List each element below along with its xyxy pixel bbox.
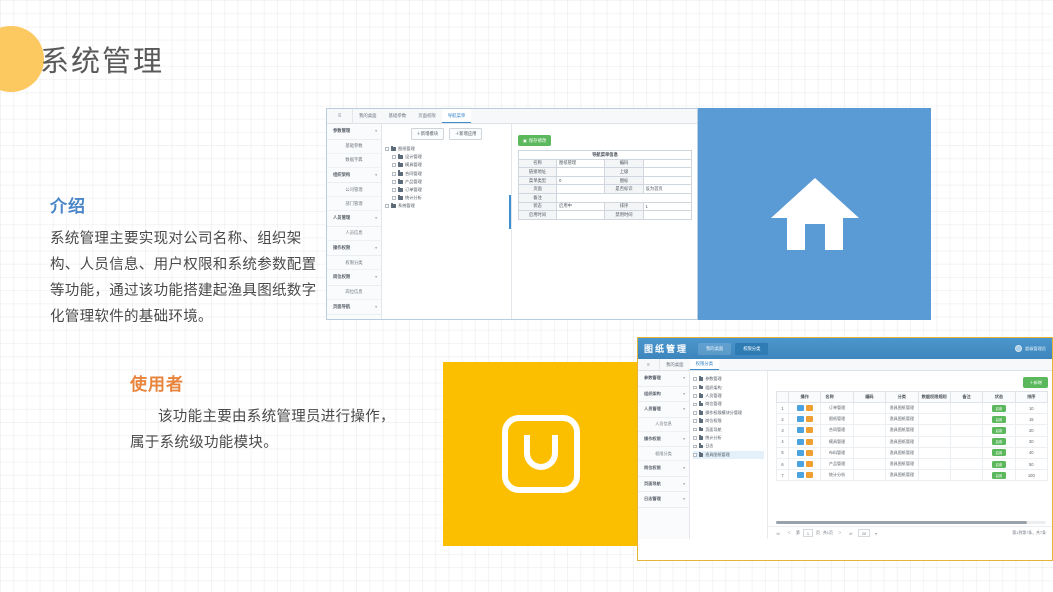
sidebar-item-人员信息[interactable]: 人员信息: [638, 418, 689, 432]
cell-name: 产品管理: [821, 458, 853, 469]
cell-status: 启用: [983, 470, 1015, 481]
cell-status: 启用: [983, 403, 1015, 414]
row-actions: [789, 458, 821, 469]
field-label: 排序: [605, 202, 643, 211]
page-title: 系统管理: [40, 38, 164, 80]
edit-icon[interactable]: [806, 405, 813, 411]
row-actions: [789, 414, 821, 425]
row-actions: [789, 470, 821, 481]
cell-code: [853, 470, 885, 481]
folder-icon: [398, 163, 403, 167]
column-header-5[interactable]: 数据权限规则: [918, 392, 950, 403]
edit-icon[interactable]: [806, 416, 813, 422]
sidebar-group-label: 操作权限: [333, 245, 350, 251]
folder-icon: [398, 155, 403, 159]
chevron-down-icon: ▾: [683, 466, 685, 470]
folder-icon: [398, 172, 403, 176]
permission-grid-pane: ＋新增 操作名称编码分类数据权限规则备注状态排序 1订单管理渔具图纸管理启用10…: [768, 371, 1052, 539]
tree-item[interactable]: 渔具图纸管理: [693, 451, 764, 459]
sidebar-group-label: 岗位权限: [333, 274, 350, 280]
row-index: 2: [777, 414, 789, 425]
field-label: 链接地址: [519, 168, 557, 177]
sidebar-group-label: 人员管理: [644, 406, 661, 412]
tree-item-label: 页面导航: [705, 427, 721, 433]
tree-item-label: 操作权限模块分管理: [705, 410, 742, 416]
field-label: 图标: [605, 176, 643, 185]
tab-2[interactable]: 页面权限: [412, 109, 442, 123]
cell-cat: 渔具图纸管理: [886, 470, 918, 481]
sidebar-item-页面权限[interactable]: 页面权限: [327, 315, 381, 320]
cell-name: 模具管理: [821, 436, 853, 447]
tree-item-label: 合同管理: [405, 171, 422, 177]
folder-icon: [699, 377, 704, 381]
row-index: 1: [777, 403, 789, 414]
module-tree-pane: ＋新增模块＋新增应用 图纸管理设计管理模具管理合同管理产品管理订单管理统计分析系…: [382, 124, 512, 320]
table-row[interactable]: 7统计分析渔具图纸管理启用100: [777, 470, 1048, 481]
form-row: 名称图纸管理编码: [519, 159, 692, 168]
table-row[interactable]: 6产品管理渔具图纸管理启用50: [777, 458, 1048, 469]
field-value[interactable]: 设为首页: [643, 185, 691, 194]
edit-icon[interactable]: [806, 427, 813, 433]
form-row: 页面是否标识设为首页: [519, 185, 692, 194]
tree-item[interactable]: 参数管理: [693, 375, 764, 383]
tree-item[interactable]: 页面导航: [693, 425, 764, 433]
edit-icon[interactable]: [806, 472, 813, 478]
expand-checkbox[interactable]: [693, 436, 697, 440]
field-value[interactable]: [643, 168, 691, 177]
tree-item[interactable]: 图纸管理: [385, 145, 508, 153]
column-header-8[interactable]: 排序: [1015, 392, 1047, 403]
expand-checkbox[interactable]: [693, 445, 697, 449]
column-header-7[interactable]: 状态: [983, 392, 1015, 403]
field-label: 名称: [519, 159, 557, 168]
cell-status: 启用: [983, 414, 1015, 425]
cell-order: 30: [1015, 436, 1047, 447]
tree-item-label: 统计分析: [705, 435, 721, 441]
app-top-tabstrip: 我的桌面基础参数页面权限导航菜单: [353, 109, 471, 123]
field-label: 上级: [605, 168, 643, 177]
field-value[interactable]: 图纸管理: [557, 159, 605, 168]
tab-0[interactable]: 我的桌面: [353, 109, 383, 123]
page-size-select[interactable]: 20: [858, 529, 870, 537]
field-value[interactable]: 0: [557, 176, 605, 185]
cell-cat: 渔具图纸管理: [886, 458, 918, 469]
cell-note: [950, 414, 982, 425]
decorative-circle: [0, 26, 44, 92]
record-count: 第1到第7条，共7条: [1012, 530, 1046, 536]
cell-rule: [918, 447, 950, 458]
folder-icon: [398, 180, 403, 184]
view-icon[interactable]: [797, 472, 804, 478]
expand-checkbox[interactable]: [693, 428, 697, 432]
page-label: 第: [796, 530, 800, 536]
collapse-icon[interactable]: ≡: [327, 109, 353, 123]
field-value[interactable]: [557, 193, 692, 202]
cell-status: 启用: [983, 436, 1015, 447]
screenshot-panel-navigation-menu: ≡ 我的桌面基础参数页面权限导航菜单 参数管理▾基础参数数据字典组织架构▾公司管…: [326, 108, 698, 320]
button-新增应用[interactable]: ＋新增应用: [449, 128, 482, 140]
folder-icon: [699, 411, 704, 415]
sidebar-item-部门管理[interactable]: 部门管理: [327, 197, 381, 211]
tree-item[interactable]: 组织架构: [693, 383, 764, 391]
slide-canvas: 系统管理 介绍 系统管理主要实现对公司名称、组织架构、人员信息、用户权限和系统参…: [0, 0, 1053, 592]
expand-checkbox[interactable]: [392, 196, 396, 200]
category-tree: 参数管理组织架构人员管理岗位管理操作权限模块分管理岗位权限页面导航统计分析日志渔…: [693, 375, 764, 459]
tree-item[interactable]: 订单管理: [385, 186, 508, 194]
tree-item-label: 渔具图纸管理: [705, 452, 730, 458]
sidebar-group-label: 岗位权限: [644, 465, 661, 471]
tree-item[interactable]: 统计分析: [693, 434, 764, 442]
button-新增模块[interactable]: ＋新增模块: [411, 128, 444, 140]
expand-checkbox[interactable]: [385, 147, 389, 151]
expand-checkbox[interactable]: [693, 419, 697, 423]
sidebar-group-label: 参数管理: [333, 128, 350, 134]
expand-checkbox[interactable]: [693, 377, 697, 381]
sidebar-group-参数管理[interactable]: 参数管理▾: [327, 124, 381, 140]
view-icon[interactable]: [797, 416, 804, 422]
cell-order: 40: [1015, 447, 1047, 458]
page-unit: 页: [816, 530, 820, 536]
panel-home-graphic: [698, 108, 931, 320]
sidebar-group-人员管理[interactable]: 人员管理▾: [327, 211, 381, 227]
total-pages: 共1页: [823, 530, 833, 536]
sidebar-group-组织架构[interactable]: 组织架构▾: [638, 387, 689, 403]
cell-order: 15: [1015, 414, 1047, 425]
cell-cat: 渔具图纸管理: [886, 403, 918, 414]
sidebar-group-label: 组织架构: [644, 391, 661, 397]
view-icon[interactable]: [797, 427, 804, 433]
cell-note: [950, 403, 982, 414]
sidebar-group-岗位权限[interactable]: 岗位权限▾: [638, 461, 689, 477]
cell-order: 10: [1015, 403, 1047, 414]
cell-cat: 渔具图纸管理: [886, 447, 918, 458]
field-label: 是否标识: [605, 185, 643, 194]
row-actions: [789, 436, 821, 447]
tree-item-label: 设计管理: [405, 154, 422, 160]
page-input[interactable]: 1: [803, 529, 813, 537]
tree-item[interactable]: 岗位权限: [693, 417, 764, 425]
app-top-toolbar: ≡ 我的桌面基础参数页面权限导航菜单: [327, 109, 697, 124]
table-row[interactable]: 3合同管理渔具图纸管理启用20: [777, 425, 1048, 436]
row-index: 5: [777, 447, 789, 458]
folder-icon: [391, 147, 396, 151]
folder-icon: [699, 403, 704, 407]
field-value[interactable]: 1: [643, 202, 691, 211]
tab-0[interactable]: 我的桌面: [698, 343, 731, 355]
field-value[interactable]: [557, 168, 605, 177]
next-page-button[interactable]: ＞: [836, 530, 844, 536]
expand-checkbox[interactable]: [693, 453, 697, 457]
add-button[interactable]: ＋新增: [1023, 377, 1048, 388]
tree-item-label: 组织架构: [705, 385, 721, 391]
app-top-sidebar: 参数管理▾基础参数数据字典组织架构▾公司管理部门管理人员管理▾人员信息操作权限▾…: [327, 124, 382, 320]
cell-name: 合同管理: [821, 425, 853, 436]
sidebar-group-人员管理[interactable]: 人员管理▾: [638, 402, 689, 418]
sidebar-group-label: 页面导航: [644, 481, 661, 487]
cell-note: [950, 425, 982, 436]
table-row[interactable]: 1订单管理渔具图纸管理启用10: [777, 403, 1048, 414]
category-tree-pane: 参数管理组织架构人员管理岗位管理操作权限模块分管理岗位权限页面导航统计分析日志渔…: [690, 371, 768, 539]
expand-checkbox[interactable]: [392, 180, 396, 184]
status-badge: 启用: [992, 438, 1007, 445]
cell-order: 50: [1015, 458, 1047, 469]
app-bottom-subbar: ≡ 我的桌面权限分类: [638, 359, 1052, 371]
folder-icon: [699, 419, 704, 423]
prev-page-button[interactable]: ＜: [785, 530, 793, 536]
table-row[interactable]: 2图纸管理渔具图纸管理启用15: [777, 414, 1048, 425]
sidebar-group-参数管理[interactable]: 参数管理▾: [638, 371, 689, 387]
app-bottom-sidebar: 参数管理▾组织架构▾人员管理▾人员信息操作权限▾权限分类岗位权限▾页面导航▾日志…: [638, 371, 690, 539]
sidebar-item-基础参数[interactable]: 基础参数: [327, 140, 381, 154]
sidebar-group-label: 日志管理: [644, 496, 661, 502]
expand-checkbox[interactable]: [392, 172, 396, 176]
chevron-down-icon: ▾: [375, 305, 377, 309]
expand-checkbox[interactable]: [693, 403, 697, 407]
cell-cat: 渔具图纸管理: [886, 425, 918, 436]
chevron-down-icon: ▾: [375, 246, 377, 250]
tree-item-label: 系统管理: [398, 203, 415, 209]
field-value[interactable]: [643, 176, 691, 185]
cell-rule: [918, 470, 950, 481]
chevron-down-icon: ▾: [683, 376, 685, 380]
expand-checkbox[interactable]: [693, 394, 697, 398]
user-chip[interactable]: 超级管理员: [1015, 345, 1046, 352]
field-value[interactable]: [557, 211, 605, 220]
user-heading: 使用者: [130, 370, 402, 395]
sidebar-item-权限分类[interactable]: 权限分类: [638, 447, 689, 461]
tree-item-label: 产品管理: [405, 179, 422, 185]
field-value[interactable]: 启用中: [557, 202, 605, 211]
column-header-1[interactable]: 操作: [789, 392, 821, 403]
folder-icon: [391, 204, 396, 208]
cell-name: 布料管理: [821, 447, 853, 458]
folder-icon: [699, 445, 704, 449]
edit-icon[interactable]: [806, 461, 813, 467]
sidebar-group-组织架构[interactable]: 组织架构▾: [327, 168, 381, 184]
field-value[interactable]: [557, 185, 605, 194]
module-tree: 图纸管理设计管理模具管理合同管理产品管理订单管理统计分析系统管理: [385, 145, 508, 211]
tree-item[interactable]: 系统管理: [385, 202, 508, 210]
cell-cat: 渔具图纸管理: [886, 436, 918, 447]
tree-item[interactable]: 日志: [693, 442, 764, 450]
last-page-button[interactable]: ≫: [847, 531, 855, 536]
folder-icon: [699, 453, 704, 457]
tree-item-label: 模具管理: [405, 162, 422, 168]
tree-item-label: 岗位管理: [705, 401, 721, 407]
expand-checkbox[interactable]: [392, 163, 396, 167]
field-value[interactable]: [643, 211, 691, 220]
sidebar-group-日志管理[interactable]: 日志管理▾: [638, 492, 689, 508]
sidebar-group-label: 操作权限: [644, 436, 661, 442]
row-index: 4: [777, 436, 789, 447]
sidebar-item-岗位信息[interactable]: 岗位信息: [327, 286, 381, 300]
tree-action-buttons: ＋新增模块＋新增应用: [385, 128, 508, 140]
cell-name: 图纸管理: [821, 414, 853, 425]
expand-checkbox[interactable]: [693, 411, 697, 415]
edit-icon[interactable]: [806, 439, 813, 445]
screenshot-panel-permission-category: 图纸管理 我的桌面权限分类 超级管理员 ≡ 我的桌面权限分类 参数管理▾组织架构…: [637, 337, 1053, 561]
cell-status: 启用: [983, 425, 1015, 436]
sidebar-group-页面导航[interactable]: 页面导航▾: [327, 300, 381, 316]
status-badge: 启用: [992, 472, 1007, 479]
navigation-menu-form: 导航菜单信息名称图纸管理编码链接地址上级菜单类型0图标页面是否标识设为首页备注状…: [518, 150, 692, 220]
chevron-down-icon[interactable]: ▾: [873, 531, 879, 536]
folder-icon: [699, 394, 704, 398]
tree-item[interactable]: 设计管理: [385, 153, 508, 161]
tree-item[interactable]: 操作权限模块分管理: [693, 409, 764, 417]
tree-item-label: 岗位权限: [705, 418, 721, 424]
tree-item[interactable]: 产品管理: [385, 178, 508, 186]
app-bottom-header: 图纸管理 我的桌面权限分类 超级管理员: [638, 338, 1052, 359]
tab-1[interactable]: 权限分类: [735, 343, 768, 355]
chevron-down-icon: ▾: [683, 407, 685, 411]
chevron-down-icon: ▾: [683, 392, 685, 396]
field-value[interactable]: [643, 159, 691, 168]
app-bottom-tabstrip: 我的桌面权限分类: [698, 343, 768, 355]
view-icon[interactable]: [797, 450, 804, 456]
folder-icon: [398, 188, 403, 192]
tab-1[interactable]: 基础参数: [383, 109, 413, 123]
expand-checkbox[interactable]: [385, 204, 389, 208]
column-header-0[interactable]: [777, 392, 789, 403]
app-bottom-subtabstrip: 我的桌面权限分类: [660, 359, 719, 370]
folder-icon: [699, 428, 704, 432]
row-index: 7: [777, 470, 789, 481]
pane-splitter[interactable]: [509, 195, 511, 229]
column-header-3[interactable]: 编码: [853, 392, 885, 403]
chevron-down-icon: ▾: [375, 129, 377, 133]
tree-item[interactable]: 模具管理: [385, 161, 508, 169]
form-row: 链接地址上级: [519, 168, 692, 177]
app-top-body: 参数管理▾基础参数数据字典组织架构▾公司管理部门管理人员管理▾人员信息操作权限▾…: [327, 124, 697, 320]
shopping-bag-icon: [500, 413, 582, 495]
app-bottom-body: 参数管理▾组织架构▾人员管理▾人员信息操作权限▾权限分类岗位权限▾页面导航▾日志…: [638, 371, 1052, 539]
tab-1[interactable]: 权限分类: [690, 359, 720, 370]
chevron-down-icon: ▾: [683, 497, 685, 501]
grid-toolbar: ＋新增: [776, 377, 1048, 388]
edit-icon[interactable]: [806, 450, 813, 456]
expand-checkbox[interactable]: [392, 188, 396, 192]
sidebar-group-操作权限[interactable]: 操作权限▾: [327, 241, 381, 257]
table-row[interactable]: 5布料管理渔具图纸管理启用40: [777, 447, 1048, 458]
form-row: 启用时间禁用时间: [519, 211, 692, 220]
form-title: 导航菜单信息: [519, 151, 692, 160]
expand-checkbox[interactable]: [392, 155, 396, 159]
save-icon: ▣: [523, 138, 527, 143]
field-label: 状态: [519, 202, 557, 211]
cell-rule: [918, 414, 950, 425]
menu-form-pane: ▣ 保存修改 导航菜单信息名称图纸管理编码链接地址上级菜单类型0图标页面是否标识…: [512, 124, 697, 320]
cell-status: 启用: [983, 458, 1015, 469]
sidebar-group-label: 人员管理: [333, 215, 350, 221]
tab-3[interactable]: 导航菜单: [442, 109, 472, 123]
tree-item-label: 人员管理: [705, 393, 721, 399]
pagination-bar: ≪ ＜ 第 1 页 共1页 ＞ ≫ 20 ▾ 第1到第7条，共7条: [768, 526, 1052, 539]
cell-name: 订单管理: [821, 403, 853, 414]
sidebar-group-页面导航[interactable]: 页面导航▾: [638, 477, 689, 493]
cell-rule: [918, 425, 950, 436]
sidebar-item-数据字典[interactable]: 数据字典: [327, 154, 381, 168]
tree-item-label: 日志: [705, 443, 713, 449]
chevron-down-icon: ▾: [375, 173, 377, 177]
sidebar-group-label: 页面导航: [333, 304, 350, 310]
chevron-down-icon: ▾: [375, 216, 377, 220]
tab-0[interactable]: 我的桌面: [660, 359, 690, 370]
field-label: 页面: [519, 185, 557, 194]
cell-code: [853, 458, 885, 469]
field-label: 编码: [605, 159, 643, 168]
sidebar-group-岗位权限[interactable]: 岗位权限▾: [327, 270, 381, 286]
column-header-4[interactable]: 分类: [886, 392, 918, 403]
tree-item[interactable]: 合同管理: [385, 170, 508, 178]
app-logo: 图纸管理: [644, 342, 688, 355]
tree-item[interactable]: 统计分析: [385, 194, 508, 202]
cell-rule: [918, 403, 950, 414]
intro-heading: 介绍: [50, 192, 318, 217]
column-header-6[interactable]: 备注: [950, 392, 982, 403]
tree-item[interactable]: 人员管理: [693, 392, 764, 400]
sidebar-group-label: 参数管理: [644, 375, 661, 381]
expand-checkbox[interactable]: [693, 386, 697, 390]
tree-item-label: 参数管理: [705, 376, 721, 382]
view-icon[interactable]: [797, 405, 804, 411]
tree-item-label: 图纸管理: [398, 146, 415, 152]
tree-item[interactable]: 岗位管理: [693, 400, 764, 408]
save-button[interactable]: ▣ 保存修改: [518, 135, 551, 146]
cell-code: [853, 436, 885, 447]
status-badge: 启用: [992, 449, 1007, 456]
cell-status: 启用: [983, 447, 1015, 458]
row-actions: [789, 403, 821, 414]
folder-icon: [398, 196, 403, 200]
cell-note: [950, 458, 982, 469]
cell-name: 统计分析: [821, 470, 853, 481]
chevron-down-icon: ▾: [683, 482, 685, 486]
avatar: [1015, 345, 1022, 352]
cell-note: [950, 447, 982, 458]
form-row: 状态启用中排序1: [519, 202, 692, 211]
tree-item-label: 订单管理: [405, 187, 422, 193]
panel-bag-graphic: [443, 362, 639, 546]
field-label: 菜单类型: [519, 176, 557, 185]
table-row[interactable]: 4模具管理渔具图纸管理启用30: [777, 436, 1048, 447]
cell-cat: 渔具图纸管理: [886, 414, 918, 425]
sidebar-item-权限分类[interactable]: 权限分类: [327, 256, 381, 270]
status-badge: 启用: [992, 416, 1007, 423]
row-actions: [789, 425, 821, 436]
collapse-icon[interactable]: ≡: [638, 359, 660, 370]
tree-item-label: 统计分析: [405, 195, 422, 201]
row-actions: [789, 447, 821, 458]
view-icon[interactable]: [797, 461, 804, 467]
sidebar-item-公司管理[interactable]: 公司管理: [327, 183, 381, 197]
user-text-block: 使用者 该功能主要由系统管理员进行操作，属于系统级功能模块。: [130, 370, 402, 456]
row-index: 3: [777, 425, 789, 436]
status-badge: 启用: [992, 427, 1007, 434]
cell-note: [950, 436, 982, 447]
home-icon: [769, 174, 861, 254]
save-button-label: 保存修改: [529, 138, 547, 144]
column-header-2[interactable]: 名称: [821, 392, 853, 403]
sidebar-group-操作权限[interactable]: 操作权限▾: [638, 432, 689, 448]
first-page-button[interactable]: ≪: [774, 531, 782, 536]
sidebar-item-人员信息[interactable]: 人员信息: [327, 227, 381, 241]
view-icon[interactable]: [797, 439, 804, 445]
field-label: 备注: [519, 193, 557, 202]
horizontal-scrollbar[interactable]: [776, 521, 1046, 524]
cell-code: [853, 425, 885, 436]
cell-code: [853, 447, 885, 458]
